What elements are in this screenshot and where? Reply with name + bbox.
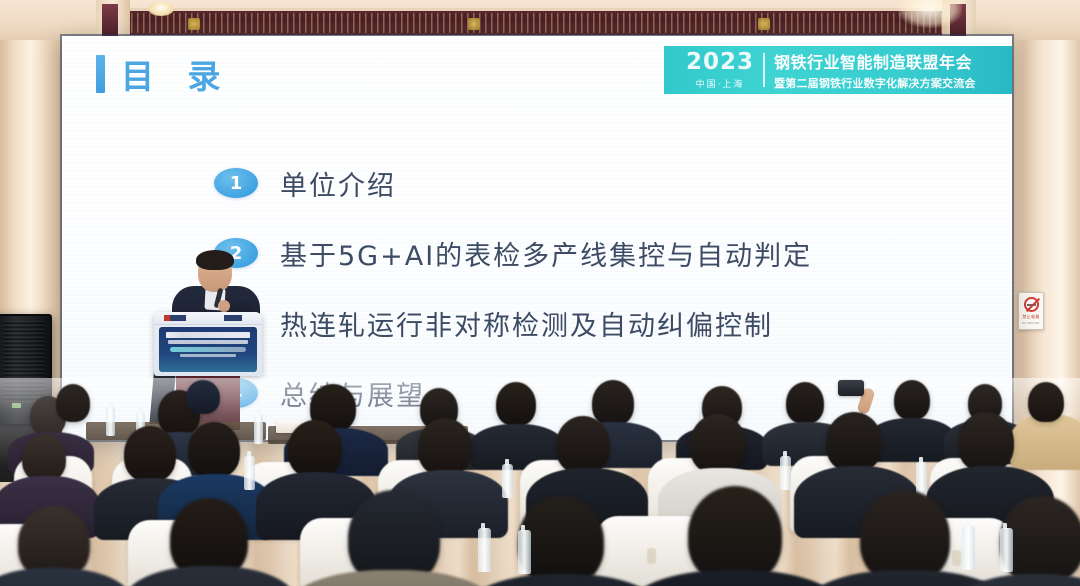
agenda-item-label: 单位介绍 (280, 164, 396, 203)
wall-sconce-light-icon (148, 2, 174, 16)
slide-title-row: 目 录 (96, 50, 232, 98)
gold-ornament-icon (188, 18, 200, 30)
audience-head (124, 426, 176, 482)
podium-banner-line2 (168, 340, 248, 344)
conference-title-line2: 暨第二届钢铁行业数字化解决方案交流会 (774, 75, 976, 91)
audience-area (0, 378, 1080, 586)
audience-head (496, 382, 536, 426)
sponsor-logo-left (164, 315, 186, 321)
audience-head (56, 384, 90, 422)
audience-head (188, 422, 240, 478)
agenda-item-label: 热连轧运行非对称检测及自动纠偏控制 (280, 304, 773, 343)
conference-banner-titles: 钢铁行业智能制造联盟年会 暨第二届钢铁行业数字化解决方案交流会 (774, 49, 976, 91)
water-bottle (962, 526, 975, 570)
agenda-item: 1 单位介绍 (214, 148, 972, 218)
audience-head (958, 412, 1014, 472)
dark-window-pane (102, 4, 118, 36)
audience-head (1028, 382, 1064, 422)
conference-year: 2023 (686, 51, 754, 74)
podium-top-edge (154, 312, 262, 325)
banner-divider (763, 53, 765, 87)
water-bottle (502, 464, 513, 498)
water-bottle (106, 406, 115, 436)
water-bottle (780, 456, 791, 490)
audience-shoulders (1010, 414, 1080, 470)
presenter-hair (196, 250, 234, 270)
audience-head (186, 380, 220, 414)
cornice-slats (125, 13, 955, 33)
presenter-hand (218, 300, 230, 312)
water-bottle (254, 414, 263, 444)
cornice-panel (120, 8, 960, 38)
water-bottle (478, 528, 491, 572)
no-smoking-icon (1024, 297, 1039, 312)
audience-head (22, 434, 66, 482)
audience-head (826, 412, 882, 472)
conference-city: 中国·上海 (696, 77, 745, 90)
agenda-item-label: 基于5G+AI的表检多产线集控与自动判定 (280, 234, 812, 273)
audience-head (894, 380, 930, 420)
water-bottle (1000, 528, 1013, 572)
no-smoking-sign: 禁止吸烟 NO SMOKING (1018, 292, 1044, 330)
audience-head (786, 382, 824, 424)
title-accent-bar (96, 55, 105, 93)
audience-head (592, 380, 634, 426)
no-smoking-label: 禁止吸烟 (1022, 314, 1039, 320)
water-bottle (244, 456, 255, 490)
podium-banner-wave (170, 347, 246, 352)
conference-banner-year-block: 2023 中国·上海 (686, 51, 763, 90)
audience-head (690, 414, 746, 474)
conference-title-line1: 钢铁行业智能制造联盟年会 (774, 49, 976, 73)
gold-ornament-icon (468, 18, 480, 30)
sponsor-logo-right (224, 315, 242, 321)
podium-banner-line3 (180, 354, 236, 357)
agenda-item: 2 基于5G+AI的表检多产线集控与自动判定 (214, 218, 972, 288)
podium-banner (159, 327, 257, 372)
agenda-number-badge: 1 (214, 168, 258, 198)
podium-banner-line1 (166, 332, 250, 338)
audience-head (418, 418, 472, 476)
podium (154, 312, 262, 376)
conference-banner: 2023 中国·上海 钢铁行业智能制造联盟年会 暨第二届钢铁行业数字化解决方案交… (664, 46, 1012, 94)
audience-head (556, 416, 610, 474)
gold-ornament-icon (758, 18, 770, 30)
chandelier-light-icon (898, 0, 962, 28)
water-bottle (916, 462, 927, 496)
smartphone-icon (838, 380, 864, 396)
audience-head (288, 420, 342, 478)
no-smoking-sub-label: NO SMOKING (1022, 322, 1039, 325)
agenda-item: 3 热连轧运行非对称检测及自动纠偏控制 (214, 288, 972, 358)
water-bottle (518, 530, 531, 574)
page-title: 目 录 (121, 50, 232, 98)
